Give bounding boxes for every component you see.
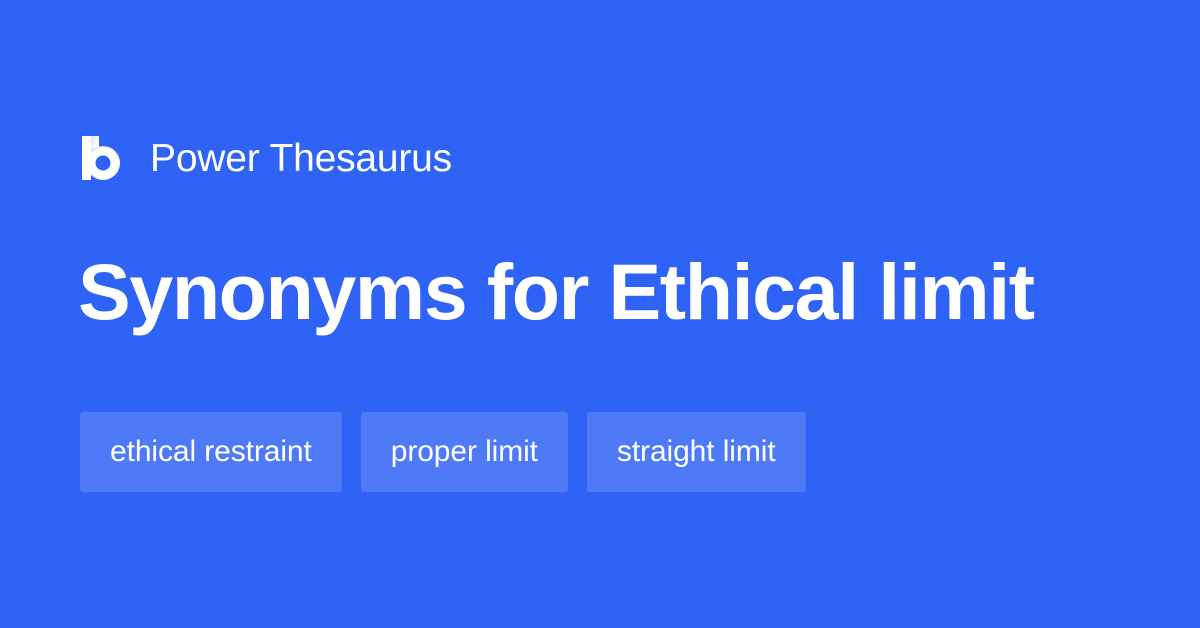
page-title: Synonyms for Ethical limit <box>78 250 1128 334</box>
synonym-chip-list: ethical restraint proper limit straight … <box>80 412 806 492</box>
social-share-card: Power Thesaurus Synonyms for Ethical lim… <box>0 0 1200 628</box>
brand-name: Power Thesaurus <box>150 139 452 178</box>
synonym-chip[interactable]: ethical restraint <box>80 412 342 492</box>
power-thesaurus-b-logo-icon <box>80 134 122 182</box>
synonym-chip[interactable]: proper limit <box>361 412 568 492</box>
synonym-chip[interactable]: straight limit <box>587 412 806 492</box>
brand-lockup[interactable]: Power Thesaurus <box>80 128 452 188</box>
